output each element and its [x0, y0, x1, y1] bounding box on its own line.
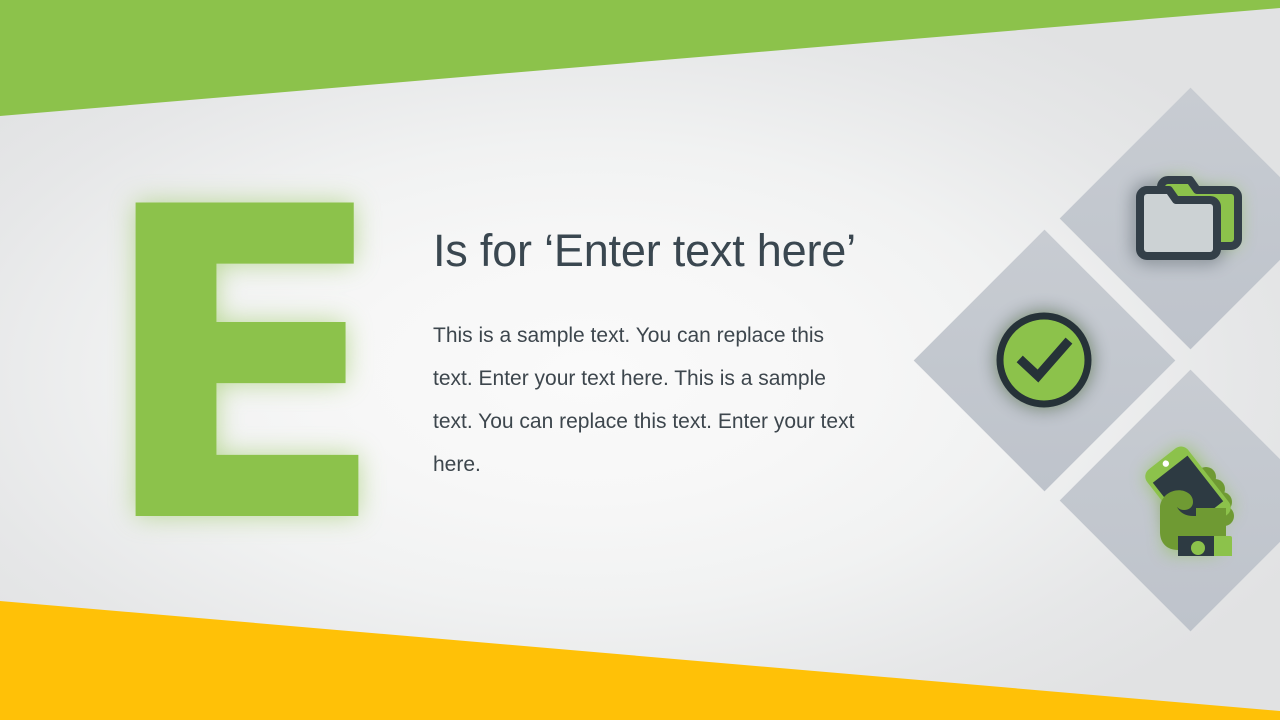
big-letter: E E — [78, 168, 408, 568]
slide-canvas: E E Is for ‘Enter text here’ This is a s… — [0, 0, 1280, 720]
body-paragraph: This is a sample text. You can replace t… — [433, 314, 863, 486]
page-title: Is for ‘Enter text here’ — [433, 227, 953, 276]
big-letter-main: E — [78, 168, 408, 568]
big-letter-glyph: E — [96, 168, 390, 568]
